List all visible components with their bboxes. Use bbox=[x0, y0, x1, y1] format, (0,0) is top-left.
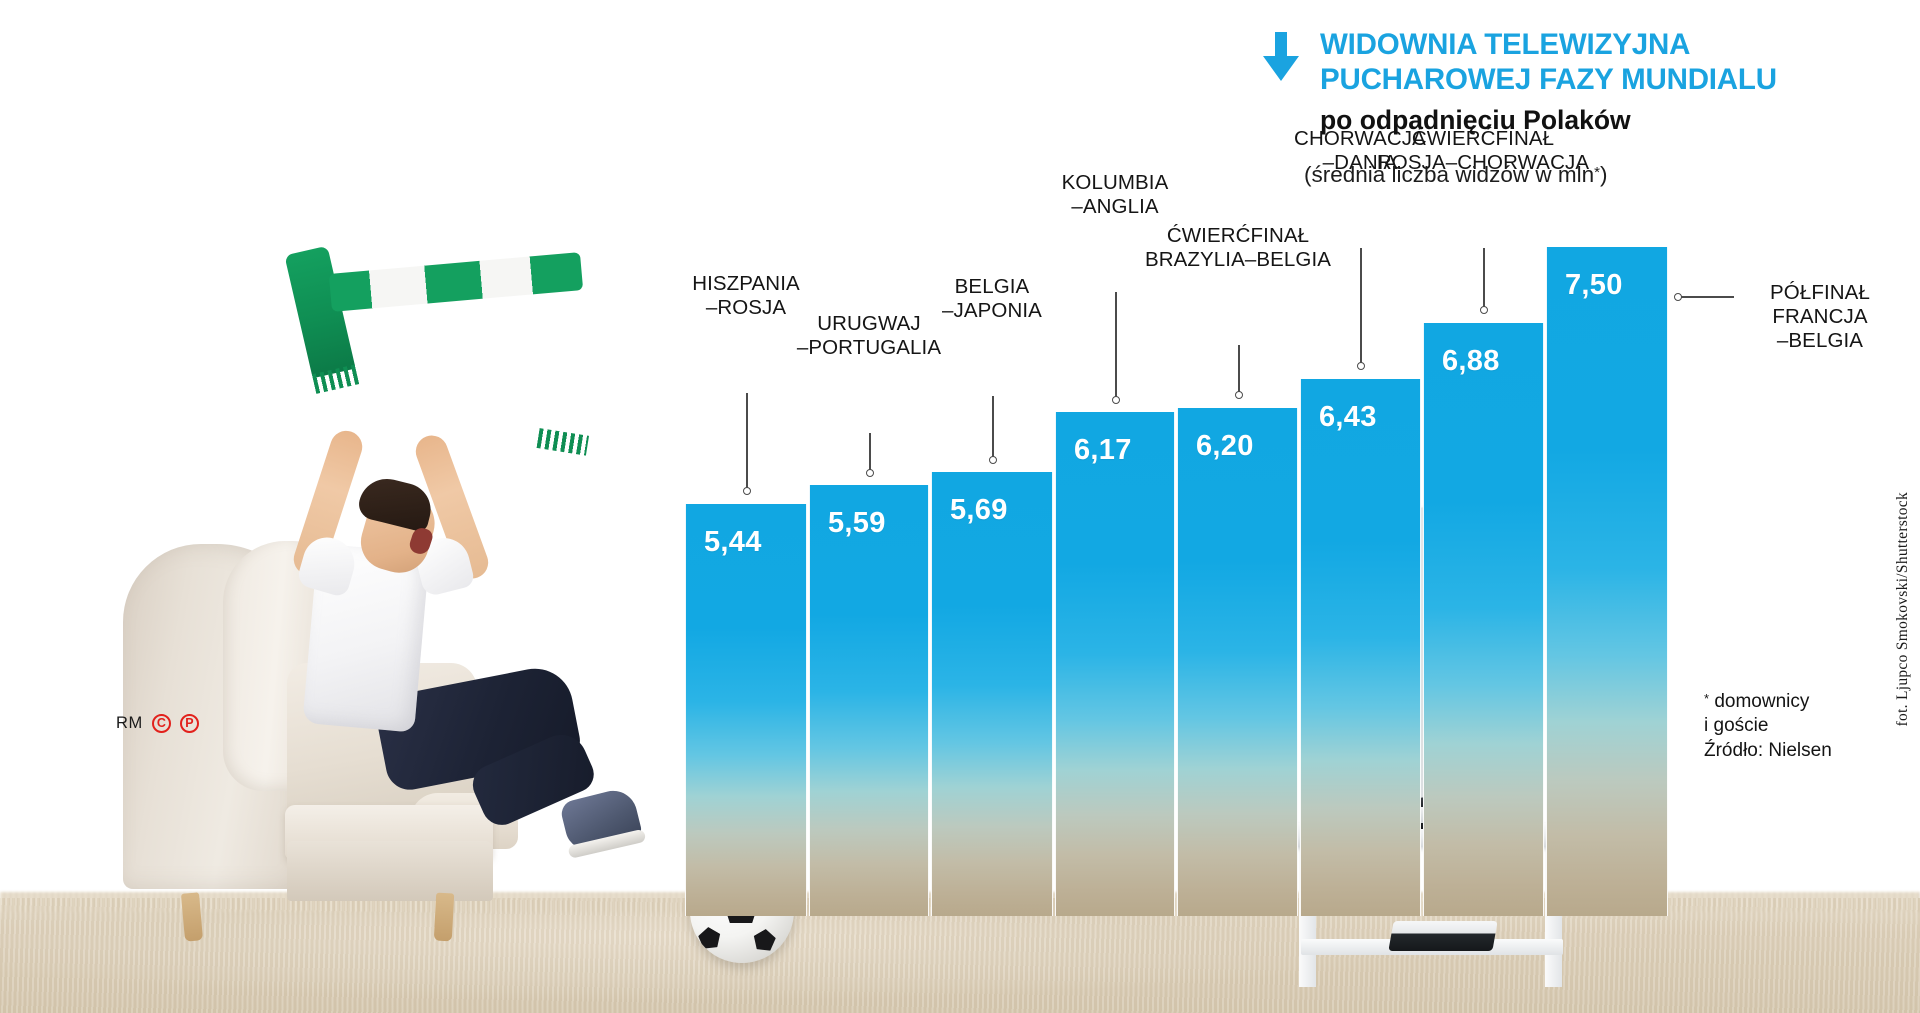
header-subtitle: po odpadnięciu Polaków bbox=[1320, 104, 1898, 137]
caption-line: BRAZYLIA–BELGIA bbox=[1113, 248, 1363, 272]
bar-urugwaj-portugalia[interactable]: 5,59 bbox=[809, 485, 929, 916]
caption-line: ĆWIERĆFINAŁ bbox=[1113, 224, 1363, 248]
bar-hiszpania-rosja[interactable]: 5,44 bbox=[685, 504, 807, 916]
rm-logo-text: RM bbox=[116, 714, 143, 733]
caption-line: –PORTUGALIA bbox=[759, 336, 979, 360]
caption-line: –JAPONIA bbox=[902, 299, 1082, 323]
bar-value: 6,17 bbox=[1074, 434, 1132, 467]
bar-kolumbia-anglia[interactable]: 6,17 bbox=[1055, 412, 1175, 916]
unit-note-text: (średnia liczba widzów w mln bbox=[1304, 162, 1594, 187]
caption-cwiercfinal-brazylia-belgia: ĆWIERĆFINAŁ BRAZYLIA–BELGIA bbox=[1113, 224, 1363, 272]
caption-line: PÓŁFINAŁ bbox=[1740, 281, 1900, 305]
header-title-line2: PUCHAROWEJ FAZY MUNDIALU bbox=[1320, 63, 1898, 98]
copyright-icon: C bbox=[152, 714, 171, 733]
header-title-line1: WIDOWNIA TELEWIZYJNA bbox=[1320, 28, 1898, 63]
header: WIDOWNIA TELEWIZYJNA PUCHAROWEJ FAZY MUN… bbox=[1258, 28, 1898, 188]
bar-cwiercfinal-brazylia-belgia[interactable]: 6,20 bbox=[1177, 408, 1298, 916]
bar-cwiercfinal-rosja-chorwacja[interactable]: 6,88 bbox=[1423, 323, 1544, 916]
footnote-line-3: Źródło: Nielsen bbox=[1704, 739, 1900, 763]
footnote: * domownicy i goście Źródło: Nielsen bbox=[1704, 690, 1900, 763]
caption-polfinal-francja-belgia: PÓŁFINAŁ FRANCJA –BELGIA bbox=[1740, 281, 1900, 354]
rm-logo: RM C P bbox=[116, 714, 199, 733]
caption-line: –BELGIA bbox=[1740, 329, 1900, 353]
caption-belgia-japonia: BELGIA –JAPONIA bbox=[902, 275, 1082, 323]
footnote-line-2: i goście bbox=[1704, 714, 1900, 738]
bar-value: 6,20 bbox=[1196, 430, 1254, 463]
caption-line: –ANGLIA bbox=[1025, 195, 1205, 219]
infographic-canvas: 5,44 5,59 5,69 6,17 6,20 6,43 6,88 7,50 bbox=[0, 0, 1920, 1013]
bar-value: 6,43 bbox=[1319, 401, 1377, 434]
caption-line: HISZPANIA bbox=[646, 272, 846, 296]
caption-line: KOLUMBIA bbox=[1025, 171, 1205, 195]
arrow-down-icon bbox=[1258, 32, 1304, 87]
unit-note-close: ) bbox=[1600, 162, 1608, 187]
bar-value: 6,88 bbox=[1442, 345, 1500, 378]
bar-value: 5,44 bbox=[704, 526, 762, 559]
caption-line: FRANCJA bbox=[1740, 305, 1900, 329]
bar-value: 5,69 bbox=[950, 494, 1008, 527]
bar-value: 7,50 bbox=[1565, 269, 1623, 302]
caption-kolumbia-anglia: KOLUMBIA –ANGLIA bbox=[1025, 171, 1205, 219]
header-unit-note: (średnia liczba widzów w mln*) bbox=[1304, 161, 1898, 188]
bar-belgia-japonia[interactable]: 5,69 bbox=[931, 472, 1053, 916]
footnote-line-1: domownicy bbox=[1709, 691, 1809, 712]
phonogram-icon: P bbox=[180, 714, 199, 733]
bar-value: 5,59 bbox=[828, 507, 886, 540]
caption-line: BELGIA bbox=[902, 275, 1082, 299]
bar-chorwacja-dania[interactable]: 6,43 bbox=[1300, 379, 1421, 916]
bar-polfinal-francja-belgia[interactable]: 7,50 bbox=[1546, 247, 1668, 916]
